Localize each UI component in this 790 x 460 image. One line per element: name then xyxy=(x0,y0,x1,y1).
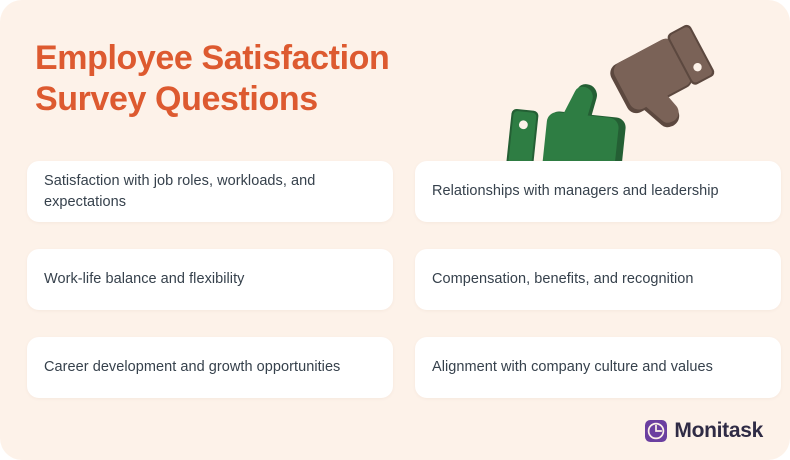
question-card[interactable]: Work-life balance and flexibility xyxy=(27,249,393,310)
question-card-text: Career development and growth opportunit… xyxy=(44,357,340,378)
brand-logo-text: Monitask xyxy=(674,420,763,442)
question-card[interactable]: Satisfaction with job roles, workloads, … xyxy=(27,161,393,222)
question-card[interactable]: Compensation, benefits, and recognition xyxy=(415,249,781,310)
clock-icon xyxy=(645,420,667,442)
question-card-grid: Satisfaction with job roles, workloads, … xyxy=(27,161,763,405)
brand-logo[interactable]: Monitask xyxy=(645,418,763,444)
question-card-text: Work-life balance and flexibility xyxy=(44,269,244,290)
thumbs-down-icon xyxy=(606,23,728,141)
question-card[interactable]: Alignment with company culture and value… xyxy=(415,337,781,398)
question-card-text: Satisfaction with job roles, workloads, … xyxy=(44,171,376,213)
question-card[interactable]: Relationships with managers and leadersh… xyxy=(415,161,781,222)
question-card-text: Relationships with managers and leadersh… xyxy=(432,181,719,202)
question-card[interactable]: Career development and growth opportunit… xyxy=(27,337,393,398)
poster-canvas: Employee Satisfaction Survey Questions xyxy=(0,0,790,460)
question-card-text: Compensation, benefits, and recognition xyxy=(432,269,694,290)
page-title: Employee Satisfaction Survey Questions xyxy=(35,38,505,120)
thumbs-up-icon xyxy=(506,77,630,170)
question-card-text: Alignment with company culture and value… xyxy=(432,357,713,378)
thumbs-illustration xyxy=(497,20,737,170)
